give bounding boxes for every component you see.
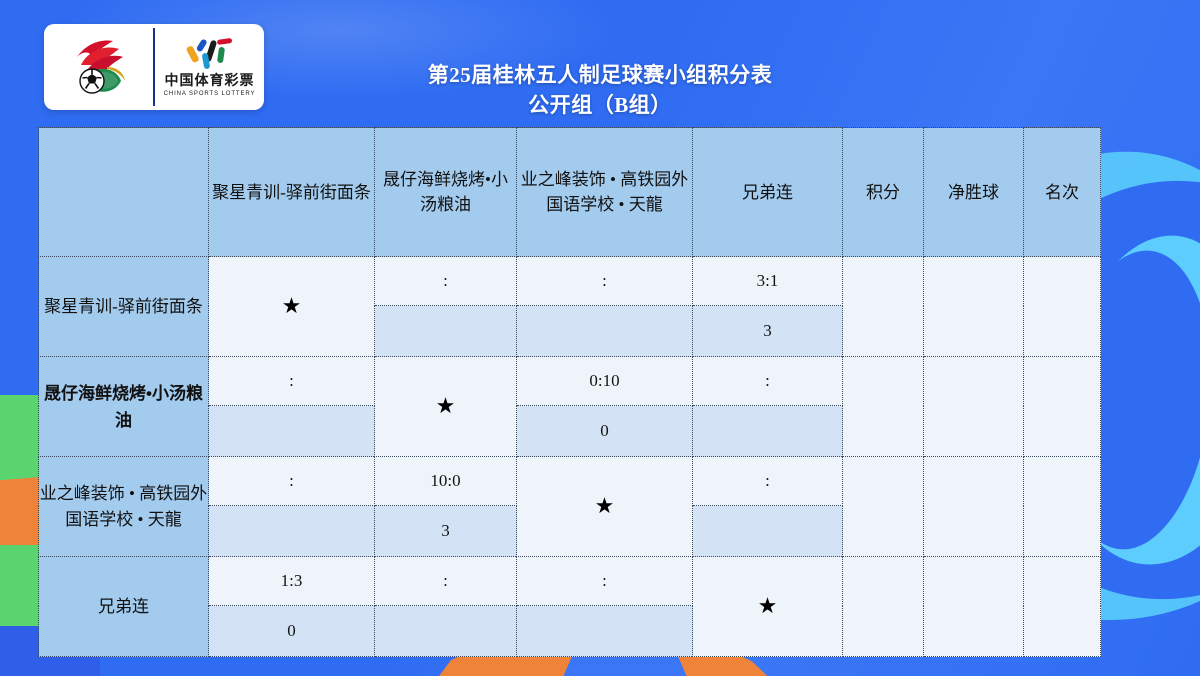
- match-points-cell: 0: [517, 406, 693, 457]
- column-header-team-1: 晟仔海鲜烧烤•小汤粮油: [375, 128, 517, 257]
- match-score-cell: :: [209, 357, 375, 406]
- match-points-cell: [375, 606, 517, 657]
- diagonal-self-cell: ★: [209, 257, 375, 357]
- standings-table: 聚星青训-驿前街面条 晟仔海鲜烧烤•小汤粮油 业之峰装饰 • 高铁园外国语学校 …: [38, 127, 1101, 657]
- match-points-cell: 3: [693, 306, 843, 357]
- lottery-logo-en-text: CHINA SPORTS LOTTERY: [164, 91, 256, 97]
- match-score-cell: :: [209, 457, 375, 506]
- match-score-cell: :: [375, 257, 517, 306]
- match-points-cell: 3: [375, 506, 517, 557]
- football-club-logo: [44, 24, 153, 110]
- row-points-cell: [843, 357, 924, 457]
- row-goal-diff-cell: [924, 557, 1024, 657]
- page-title: 第25届桂林五人制足球赛小组积分表 公开组（B组）: [300, 60, 900, 120]
- row-rank-cell: [1024, 457, 1101, 557]
- row-team-name: 业之峰装饰 • 高铁园外国语学校 • 天龍: [39, 457, 209, 557]
- table-body: 聚星青训-驿前街面条★::3:13晟仔海鲜烧烤•小汤粮油:★0:10:0业之峰装…: [39, 257, 1101, 657]
- row-rank-cell: [1024, 257, 1101, 357]
- match-score-cell: 0:10: [517, 357, 693, 406]
- background-bottom-orange-cut: [560, 654, 690, 676]
- match-points-cell: [209, 506, 375, 557]
- row-rank-cell: [1024, 357, 1101, 457]
- column-header-team-0: 聚星青训-驿前街面条: [209, 128, 375, 257]
- diagonal-self-cell: ★: [375, 357, 517, 457]
- match-points-cell: 0: [209, 606, 375, 657]
- match-score-cell: 10:0: [375, 457, 517, 506]
- row-points-cell: [843, 457, 924, 557]
- lottery-logo-cn-text: 中国体育彩票: [165, 73, 255, 88]
- match-points-cell: [693, 406, 843, 457]
- table-row: 业之峰装饰 • 高铁园外国语学校 • 天龍:10:0★:: [39, 457, 1101, 506]
- column-header-points: 积分: [843, 128, 924, 257]
- match-score-cell: :: [375, 557, 517, 606]
- match-points-cell: [375, 306, 517, 357]
- row-goal-diff-cell: [924, 457, 1024, 557]
- row-team-name: 晟仔海鲜烧烤•小汤粮油: [39, 357, 209, 457]
- table-header: 聚星青训-驿前街面条 晟仔海鲜烧烤•小汤粮油 业之峰装饰 • 高铁园外国语学校 …: [39, 128, 1101, 257]
- row-team-name: 兄弟连: [39, 557, 209, 657]
- match-score-cell: :: [517, 257, 693, 306]
- row-points-cell: [843, 257, 924, 357]
- table-row: 聚星青训-驿前街面条★::3:1: [39, 257, 1101, 306]
- row-goal-diff-cell: [924, 357, 1024, 457]
- column-header-team-3: 兄弟连: [693, 128, 843, 257]
- title-line-2: 公开组（B组）: [300, 90, 900, 120]
- match-points-cell: [517, 606, 693, 657]
- match-score-cell: 1:3: [209, 557, 375, 606]
- column-header-team-2: 业之峰装饰 • 高铁园外国语学校 • 天龍: [517, 128, 693, 257]
- china-sports-lottery-logo: 中国体育彩票 CHINA SPORTS LOTTERY: [155, 24, 264, 110]
- row-goal-diff-cell: [924, 257, 1024, 357]
- row-rank-cell: [1024, 557, 1101, 657]
- match-score-cell: :: [517, 557, 693, 606]
- star-icon: ★: [595, 493, 615, 518]
- row-points-cell: [843, 557, 924, 657]
- table-row: 兄弟连1:3::★: [39, 557, 1101, 606]
- table-row: 晟仔海鲜烧烤•小汤粮油:★0:10:: [39, 357, 1101, 406]
- match-points-cell: [209, 406, 375, 457]
- column-header-goal-diff: 净胜球: [924, 128, 1024, 257]
- header-row: 聚星青训-驿前街面条 晟仔海鲜烧烤•小汤粮油 业之峰装饰 • 高铁园外国语学校 …: [39, 128, 1101, 257]
- title-line-1: 第25届桂林五人制足球赛小组积分表: [300, 60, 900, 90]
- star-icon: ★: [758, 593, 778, 618]
- header-corner-cell: [39, 128, 209, 257]
- row-team-name: 聚星青训-驿前街面条: [39, 257, 209, 357]
- match-score-cell: :: [693, 357, 843, 406]
- match-points-cell: [693, 506, 843, 557]
- diagonal-self-cell: ★: [693, 557, 843, 657]
- star-icon: ★: [282, 293, 302, 318]
- match-points-cell: [517, 306, 693, 357]
- column-header-rank: 名次: [1024, 128, 1101, 257]
- logo-card: 中国体育彩票 CHINA SPORTS LOTTERY: [44, 24, 264, 110]
- standings-table-container: 聚星青训-驿前街面条 晟仔海鲜烧烤•小汤粮油 业之峰装饰 • 高铁园外国语学校 …: [38, 127, 1100, 644]
- diagonal-self-cell: ★: [517, 457, 693, 557]
- star-icon: ★: [436, 393, 456, 418]
- match-score-cell: :: [693, 457, 843, 506]
- match-score-cell: 3:1: [693, 257, 843, 306]
